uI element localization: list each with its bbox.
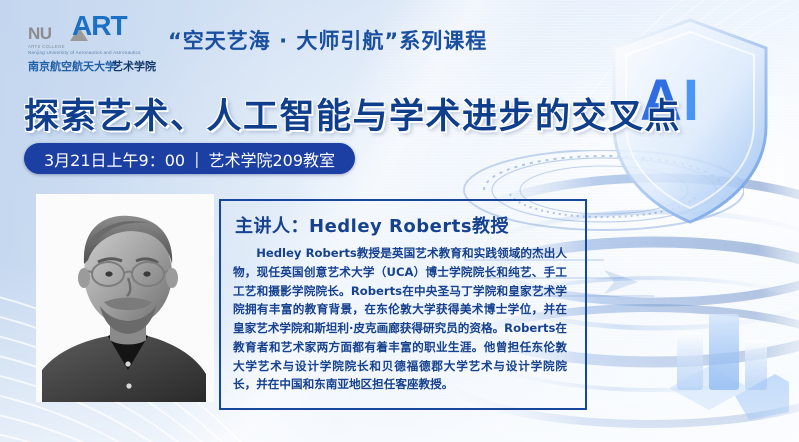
badge-location: 艺术学院209教室 xyxy=(208,147,335,171)
logo-wordmark: NU ART xyxy=(26,8,158,44)
logo-college-cn: 艺术学院 xyxy=(112,58,156,74)
speaker-name-label: 主讲人：Hedley Roberts教授 xyxy=(235,212,577,238)
ai-letter-i: I xyxy=(683,68,700,133)
speaker-bio-text: Hedley Roberts教授是英国艺术教育和实践领域的杰出人物，现任英国创意… xyxy=(233,244,567,394)
logo-nu-text: NU xyxy=(28,24,52,44)
page-title: 探索艺术、人工智能与学术进步的交叉点 xyxy=(24,88,681,139)
logo-subtitle-arts-college: ARTS COLLEGE xyxy=(28,44,65,49)
badge-separator: | xyxy=(194,149,199,168)
datetime-location-badge: 3月21日上午9：00 | 艺术学院209教室 xyxy=(24,143,355,174)
badge-datetime: 3月21日上午9：00 xyxy=(44,147,185,171)
poster-root: AI NU ART ARTS COLLEGE Nanjing Universit… xyxy=(0,0,799,442)
speaker-info-content: 主讲人：Hedley Roberts教授 Hedley Roberts教授是英国… xyxy=(227,206,577,394)
university-logo: NU ART ARTS COLLEGE Nanjing University o… xyxy=(26,8,158,70)
logo-subtitle-university-en: Nanjing University of Aeronautics and As… xyxy=(28,50,141,55)
series-title: “空天艺海 · 大师引航”系列课程 xyxy=(168,25,487,55)
logo-art-text: ART xyxy=(72,10,127,42)
logo-university-cn: 南京航空航天大学 xyxy=(28,58,116,74)
speaker-portrait xyxy=(36,194,214,402)
